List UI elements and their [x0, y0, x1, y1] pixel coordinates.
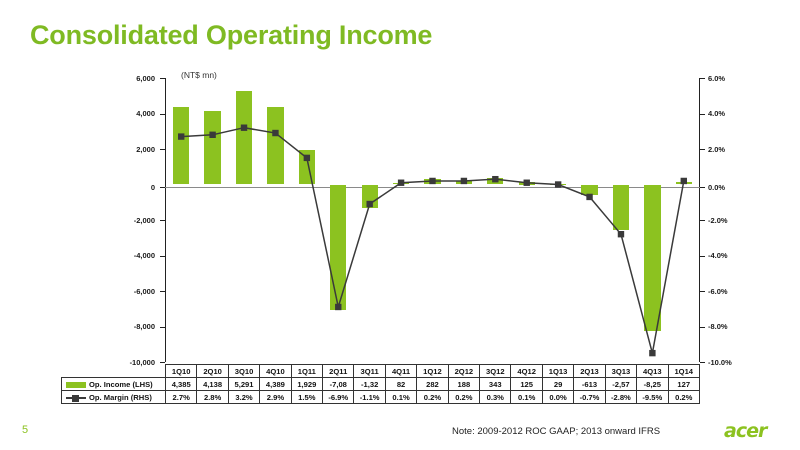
- left-tick: [160, 149, 165, 150]
- bar-4q12: [519, 182, 535, 184]
- left-axis-line: [165, 78, 166, 362]
- table-cell-margin-4q11: 0.1%: [385, 391, 416, 404]
- table-cell-margin-2q11: -6.9%: [323, 391, 354, 404]
- table-header-2q11: 2Q11: [323, 365, 354, 378]
- bar-3q10: [236, 91, 252, 185]
- bar-4q11: [393, 183, 409, 184]
- table-cell-margin-1q13: 0.0%: [542, 391, 573, 404]
- table-header-row: 1Q102Q103Q104Q101Q112Q113Q114Q111Q122Q12…: [62, 365, 700, 378]
- right-axis-tick-label: 0.0%: [708, 183, 725, 192]
- margin-marker-4q13: [649, 350, 655, 356]
- right-tick: [700, 114, 705, 115]
- left-axis-tick-label: 0: [151, 183, 155, 192]
- table-cell-income-2q13: -613: [574, 378, 605, 391]
- bar-2q13: [581, 185, 597, 196]
- right-axis-tick-label: -6.0%: [708, 287, 728, 296]
- right-axis-tick-label: -10.0%: [708, 358, 732, 367]
- bar-1q12: [424, 179, 440, 184]
- legend-op-income: Op. Income (LHS): [62, 378, 166, 391]
- table-cell-margin-3q10: 3.2%: [228, 391, 259, 404]
- left-axis-tick-label: 4,000: [136, 109, 155, 118]
- table-cell-margin-3q12: 0.3%: [480, 391, 511, 404]
- table-header-1q11: 1Q11: [291, 365, 322, 378]
- table-cell-income-1q13: 29: [542, 378, 573, 391]
- table-cell-margin-4q12: 0.1%: [511, 391, 542, 404]
- right-tick: [700, 327, 705, 328]
- bar-3q11: [362, 185, 378, 208]
- table-cell-income-3q13: -2,57: [605, 378, 636, 391]
- left-tick: [160, 187, 165, 188]
- table-header-2q10: 2Q10: [197, 365, 228, 378]
- table-header-1q14: 1Q14: [668, 365, 700, 378]
- right-tick: [700, 149, 705, 150]
- table-row-op-income: Op. Income (LHS) 4,3854,1385,2914,3891,9…: [62, 378, 700, 391]
- table-cell-income-4q12: 125: [511, 378, 542, 391]
- page-number: 5: [22, 424, 28, 436]
- right-tick: [700, 220, 705, 221]
- table-header-4q10: 4Q10: [260, 365, 291, 378]
- table-header-3q13: 3Q13: [605, 365, 636, 378]
- right-axis-tick-label: 2.0%: [708, 145, 725, 154]
- acer-logo: acer: [724, 420, 766, 442]
- table-cell-margin-1q12: 0.2%: [417, 391, 448, 404]
- footer-note: Note: 2009-2012 ROC GAAP; 2013 onward IF…: [452, 426, 660, 437]
- table-cell-margin-1q14: 0.2%: [668, 391, 700, 404]
- right-axis-tick-label: 4.0%: [708, 109, 725, 118]
- left-axis-tick-label: -4,000: [134, 251, 155, 260]
- bar-1q13: [550, 184, 566, 185]
- bar-1q11: [299, 150, 315, 184]
- table-header-2q12: 2Q12: [448, 365, 479, 378]
- table-cell-income-1q12: 282: [417, 378, 448, 391]
- left-axis-tick-label: 6,000: [136, 74, 155, 83]
- table-cell-income-3q12: 343: [480, 378, 511, 391]
- table-cell-margin-4q10: 2.9%: [260, 391, 291, 404]
- right-tick: [700, 78, 705, 79]
- left-axis-tick-label: 2,000: [136, 145, 155, 154]
- left-tick: [160, 291, 165, 292]
- units-label: (NT$ mn): [181, 70, 217, 80]
- right-axis-tick-label: -4.0%: [708, 251, 728, 260]
- left-tick: [160, 114, 165, 115]
- bar-3q12: [487, 178, 503, 184]
- left-axis-tick-label: -6,000: [134, 287, 155, 296]
- table-cell-income-4q13: -8,25: [637, 378, 668, 391]
- right-tick: [700, 256, 705, 257]
- green-swatch-icon: [66, 382, 86, 388]
- right-axis-tick-label: -8.0%: [708, 322, 728, 331]
- left-tick: [160, 220, 165, 221]
- table-cell-income-2q10: 4,138: [197, 378, 228, 391]
- table-corner-cell: [62, 365, 166, 378]
- table-header-3q10: 3Q10: [228, 365, 259, 378]
- bar-1q14: [676, 182, 692, 184]
- table-header-3q11: 3Q11: [354, 365, 385, 378]
- table-cell-margin-3q13: -2.8%: [605, 391, 636, 404]
- table-header-2q13: 2Q13: [574, 365, 605, 378]
- legend-op-margin: Op. Margin (RHS): [62, 391, 166, 404]
- right-tick: [700, 187, 705, 188]
- left-tick: [160, 327, 165, 328]
- table-cell-income-1q11: 1,929: [291, 378, 322, 391]
- bar-4q13: [644, 185, 660, 331]
- table-header-4q11: 4Q11: [385, 365, 416, 378]
- table-cell-income-3q10: 5,291: [228, 378, 259, 391]
- right-axis-tick-label: -2.0%: [708, 216, 728, 225]
- table-cell-margin-3q11: -1.1%: [354, 391, 385, 404]
- left-axis-tick-label: -2,000: [134, 216, 155, 225]
- table-cell-income-1q14: 127: [668, 378, 700, 391]
- table-cell-income-2q12: 188: [448, 378, 479, 391]
- bar-2q10: [204, 111, 220, 184]
- table-header-1q10: 1Q10: [166, 365, 197, 378]
- bar-2q12: [456, 181, 472, 184]
- legend-op-margin-label: Op. Margin (RHS): [89, 393, 152, 402]
- bar-4q10: [267, 107, 283, 185]
- table-header-4q12: 4Q12: [511, 365, 542, 378]
- bar-2q11: [330, 185, 346, 311]
- table-cell-income-2q11: -7,08: [323, 378, 354, 391]
- table-cell-income-4q11: 82: [385, 378, 416, 391]
- right-tick: [700, 362, 705, 363]
- table-cell-margin-4q13: -9.5%: [637, 391, 668, 404]
- data-table: 1Q102Q103Q104Q101Q112Q113Q114Q111Q122Q12…: [61, 364, 700, 404]
- right-tick: [700, 291, 705, 292]
- table-cell-margin-2q12: 0.2%: [448, 391, 479, 404]
- table-cell-margin-2q10: 2.8%: [197, 391, 228, 404]
- left-tick: [160, 256, 165, 257]
- table-row-op-margin: Op. Margin (RHS) 2.7%2.8%3.2%2.9%1.5%-6.…: [62, 391, 700, 404]
- table-header-3q12: 3Q12: [480, 365, 511, 378]
- table-cell-income-1q10: 4,385: [166, 378, 197, 391]
- table-cell-income-3q11: -1,32: [354, 378, 385, 391]
- right-axis-tick-label: 6.0%: [708, 74, 725, 83]
- table-header-4q13: 4Q13: [637, 365, 668, 378]
- margin-marker-3q13: [618, 231, 624, 237]
- left-tick: [160, 78, 165, 79]
- table-cell-margin-2q13: -0.7%: [574, 391, 605, 404]
- left-axis-tick-label: -8,000: [134, 322, 155, 331]
- table-cell-margin-1q10: 2.7%: [166, 391, 197, 404]
- bar-3q13: [613, 185, 629, 231]
- line-marker-icon: [66, 394, 86, 401]
- bar-1q10: [173, 107, 189, 185]
- table-header-1q12: 1Q12: [417, 365, 448, 378]
- table-header-1q13: 1Q13: [542, 365, 573, 378]
- table-cell-margin-1q11: 1.5%: [291, 391, 322, 404]
- legend-op-income-label: Op. Income (LHS): [89, 380, 153, 389]
- table-cell-income-4q10: 4,389: [260, 378, 291, 391]
